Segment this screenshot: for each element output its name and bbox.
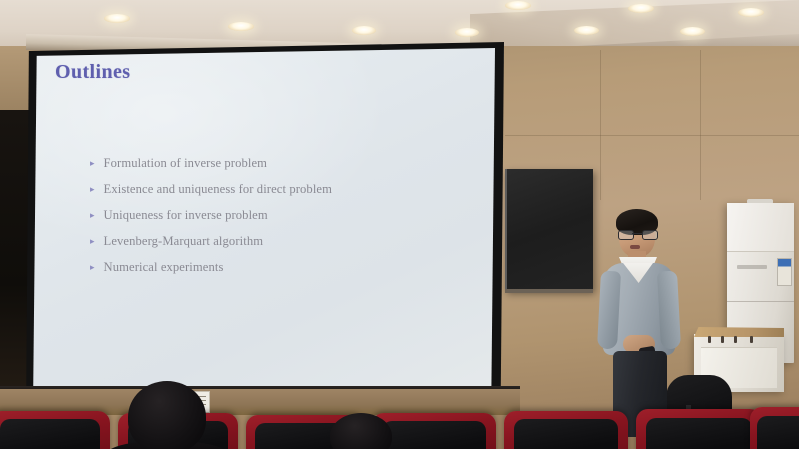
slide-bullet-label: Existence and uniqueness for direct prob… [104, 182, 332, 197]
wall-seam [505, 135, 799, 136]
slide-bullet-label: Uniqueness for inverse problem [104, 208, 268, 223]
seat-back-cushion [0, 419, 100, 449]
bullet-marker-icon: ▸ [90, 159, 95, 168]
bullet-marker-icon: ▸ [90, 211, 95, 220]
auditorium-seat [0, 411, 110, 449]
ceiling-light [680, 27, 705, 36]
seat-row [0, 387, 799, 449]
presenter-glasses [618, 230, 656, 238]
lectern-knob[interactable] [734, 336, 737, 343]
ceiling-light [228, 22, 254, 31]
auditorium-seat [636, 409, 762, 449]
auditorium-seat [504, 411, 628, 449]
slide-title: Outlines [55, 61, 130, 84]
slide-bullet-item: ▸Numerical experiments [90, 260, 450, 275]
ceiling-light [628, 4, 654, 13]
lectern-knob[interactable] [721, 336, 724, 343]
ceiling-light [505, 1, 531, 10]
seat-back-cushion [757, 416, 799, 449]
bullet-marker-icon: ▸ [90, 237, 95, 246]
bullet-marker-icon: ▸ [90, 185, 95, 194]
slide-bullet-item: ▸Existence and uniqueness for direct pro… [90, 182, 450, 197]
glasses-bridge [632, 233, 642, 234]
ceiling-light [574, 26, 599, 35]
slide-bullet-item: ▸Levenberg-Marquart algorithm [90, 234, 450, 249]
lectern-knob[interactable] [750, 336, 753, 343]
glasses-lens-right [642, 230, 658, 240]
audience-head [128, 381, 206, 449]
ac-energy-label [777, 258, 792, 286]
slide-bullet-label: Numerical experiments [104, 260, 224, 275]
seat-back-cushion [382, 421, 486, 449]
bullet-marker-icon: ▸ [90, 263, 95, 272]
slide-bullet-item: ▸Uniqueness for inverse problem [90, 208, 450, 223]
glasses-lens-left [618, 230, 634, 240]
slide-bullet-label: Levenberg-Marquart algorithm [104, 234, 264, 249]
projector-screen: Outlines ▸Formulation of inverse problem… [33, 48, 495, 408]
wall-seam [600, 50, 601, 200]
ceiling-light [352, 26, 376, 35]
blackboard-ledge [505, 289, 593, 293]
slide-bullet-label: Formulation of inverse problem [104, 156, 268, 171]
wall-seam [700, 50, 701, 200]
blackboard [505, 169, 593, 291]
seat-back-cushion [514, 419, 618, 449]
presenter-arm-left [597, 271, 621, 350]
presenter-arm-right [657, 271, 681, 350]
ac-panel-seam [727, 301, 794, 302]
slide-bullet-item: ▸Formulation of inverse problem [90, 156, 450, 171]
auditorium-seat [750, 407, 799, 449]
presenter-mouth [630, 245, 640, 249]
ceiling-light [455, 28, 479, 37]
lecture-hall-photo: Outlines ▸Formulation of inverse problem… [0, 0, 799, 449]
ac-brand-logo [737, 265, 767, 269]
ceiling-light [738, 8, 764, 17]
seat-back-cushion [646, 418, 752, 449]
ac-upper-panel [727, 203, 794, 252]
lectern-knob[interactable] [708, 336, 711, 343]
ceiling-light [104, 14, 130, 23]
slide-bullet-list: ▸Formulation of inverse problem▸Existenc… [90, 156, 450, 286]
